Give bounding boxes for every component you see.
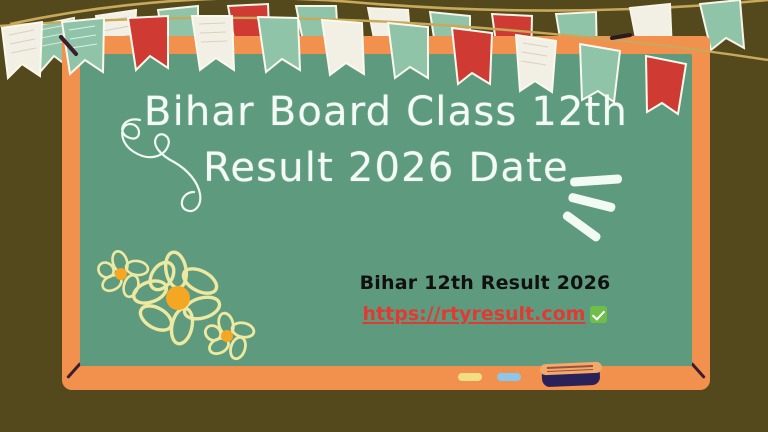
pennant: [646, 56, 686, 114]
pennant: [192, 16, 234, 70]
tack-icon: [58, 34, 84, 60]
pennant: [2, 22, 42, 78]
poster-canvas: Bihar Board Class 12th Result 2026 Date: [0, 0, 768, 432]
pennant: [128, 16, 168, 70]
info-block: Bihar 12th Result 2026 https://rtyresult…: [330, 272, 640, 325]
daisy-flowers-doodle: [92, 248, 262, 368]
info-url-row[interactable]: https://rtyresult.com: [330, 303, 640, 325]
chalk-emphasis-dashes: [566, 172, 636, 252]
green-check-icon: [590, 306, 607, 323]
pennant: [388, 23, 428, 78]
info-heading: Bihar 12th Result 2026: [330, 272, 640, 294]
corner-tick-bottom-right: [690, 362, 706, 379]
yellow-chalk-icon: [458, 373, 482, 381]
blue-chalk-icon: [497, 373, 521, 381]
pennant: [580, 44, 620, 102]
pennant: [516, 35, 556, 92]
website-link[interactable]: https://rtyresult.com: [363, 303, 586, 325]
pennant: [452, 28, 492, 84]
pennant: [322, 20, 364, 75]
pennant: [258, 17, 300, 72]
curly-swirl-doodle: [112, 108, 222, 228]
clip-icon: [612, 35, 630, 38]
